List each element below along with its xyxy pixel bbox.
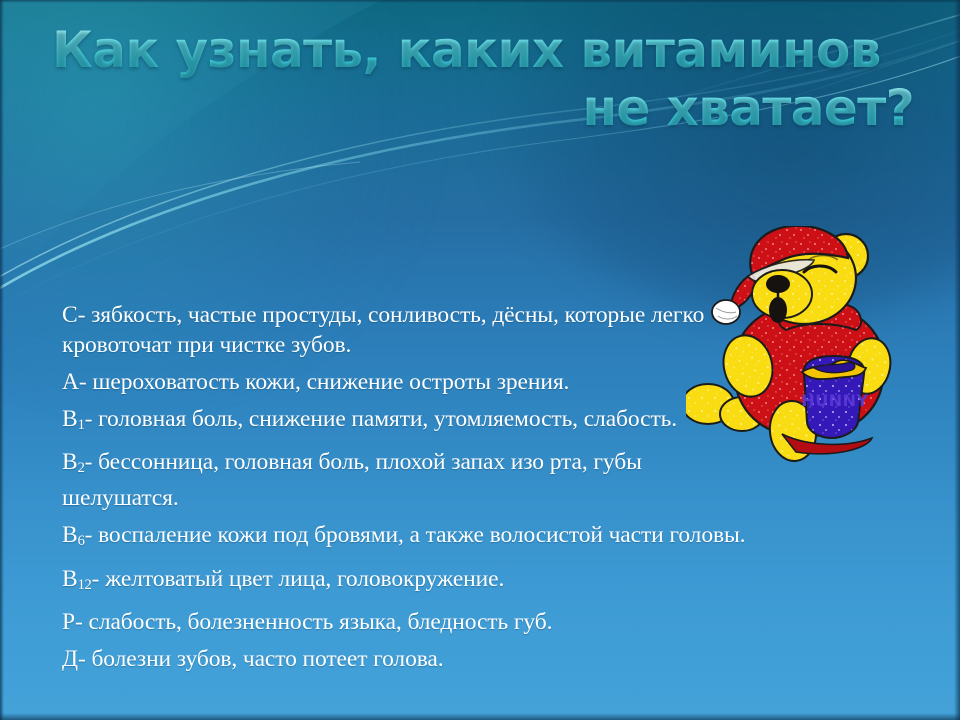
vitamin-subscript: 12 — [78, 577, 92, 593]
slide-edge-bottom — [0, 713, 960, 720]
list-item: В6- воспаление кожи под бровями, а также… — [62, 520, 762, 556]
vitamin-separator: - — [79, 369, 87, 395]
list-item: Д- болезни зубов, часто потеет голова. — [62, 644, 762, 674]
vitamin-key-c: С — [62, 302, 78, 328]
vitamin-key-b2: В — [62, 449, 78, 475]
slide-edge-top — [0, 0, 960, 3]
slide-edge-right — [954, 0, 960, 720]
list-item: В2- бессонница, головная боль, плохой за… — [62, 447, 762, 513]
list-item: А- шероховатость кожи, снижение остроты … — [62, 367, 762, 397]
vitamin-separator: - — [75, 609, 83, 635]
vitamin-separator: - — [85, 449, 93, 475]
list-item: В1- головная боль, снижение памяти, утом… — [62, 404, 762, 440]
title-line-2: не хватает? — [52, 80, 914, 136]
symptom-text: желтоватый цвет лица, головокружение. — [105, 566, 504, 592]
vitamin-separator: - — [78, 646, 86, 672]
symptom-text: болезни зубов, часто потеет голова. — [91, 646, 443, 672]
vitamin-separator: - — [78, 302, 86, 328]
vitamin-subscript: 1 — [78, 417, 85, 433]
title-line-1: Как узнать, каких витаминов — [52, 22, 914, 78]
vitamin-symptom-list: С- зябкость, частые простуды, сонливость… — [62, 300, 762, 681]
symptom-text: шероховатость кожи, снижение остроты зре… — [92, 369, 569, 395]
list-item: В12- желтоватый цвет лица, головокружени… — [62, 564, 762, 600]
vitamin-key-b6: В — [62, 522, 78, 548]
vitamin-key-b1: В — [62, 406, 78, 432]
vitamin-separator: - — [85, 406, 93, 432]
symptom-text: воспаление кожи под бровями, а также вол… — [98, 522, 745, 548]
vitamin-subscript: 6 — [78, 534, 85, 550]
list-item: Р- слабость, болезненность языка, бледно… — [62, 607, 762, 637]
slide-edge-left — [0, 0, 4, 720]
vitamin-key-a: А — [62, 369, 79, 395]
vitamin-subscript: 2 — [78, 460, 85, 476]
winnie-the-pooh-illustration: HUNNY — [686, 226, 936, 470]
symptom-text: слабость, болезненность языка, бледность… — [89, 609, 553, 635]
presentation-slide: Как узнать, каких витаминов не хватает? … — [0, 0, 960, 720]
vitamin-key-d: Д — [62, 646, 78, 672]
vitamin-separator: - — [92, 566, 100, 592]
symptom-text: зябкость, частые простуды, сонливость, д… — [62, 302, 704, 358]
list-item: С- зябкость, частые простуды, сонливость… — [62, 300, 762, 360]
vitamin-separator: - — [85, 522, 93, 548]
symptom-text: бессонница, головная боль, плохой запах … — [62, 449, 642, 511]
vitamin-key-b12: В — [62, 566, 78, 592]
pooh-bear-graphic: HUNNY — [686, 226, 936, 470]
honey-pot-label: HUNNY — [801, 391, 868, 410]
slide-title: Как узнать, каких витаминов не хватает? — [0, 0, 960, 136]
vitamin-key-p: Р — [62, 609, 75, 635]
symptom-text: головная боль, снижение памяти, утомляем… — [98, 406, 677, 432]
